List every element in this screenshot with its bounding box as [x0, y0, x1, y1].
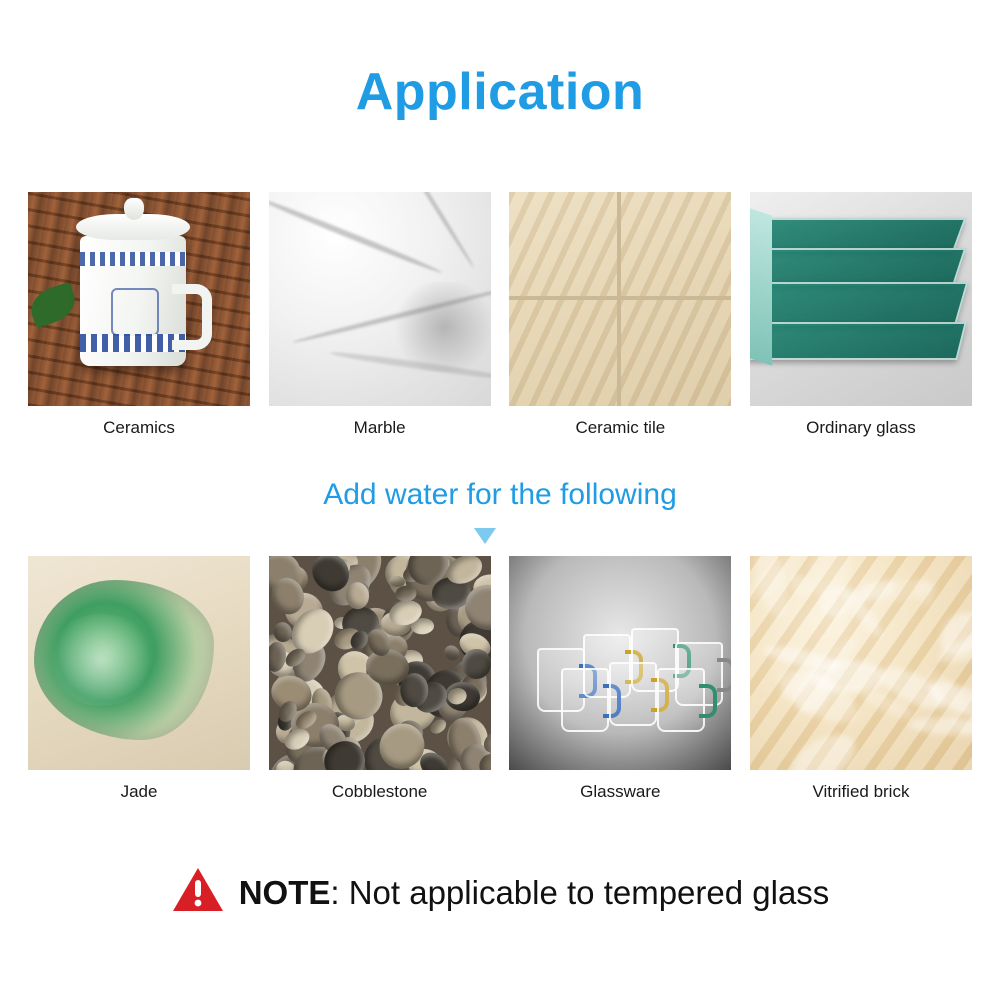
- ceramics-caption: Ceramics: [103, 418, 175, 438]
- application-item-cobblestone: Cobblestone: [269, 556, 491, 802]
- add-water-note: Add water for the following: [0, 478, 1000, 512]
- application-item-ceramics: Ceramics: [28, 192, 250, 438]
- jade-image: [28, 556, 250, 770]
- vitrified-brick-caption: Vitrified brick: [812, 782, 909, 802]
- page-title: Application: [0, 62, 1000, 122]
- application-item-ordinary-glass: Ordinary glass: [750, 192, 972, 438]
- jade-caption: Jade: [121, 782, 158, 802]
- application-item-ceramic-tile: Ceramic tile: [509, 192, 731, 438]
- application-row-2: Jade Cobblestone Glassware Vitrified bri…: [28, 556, 972, 802]
- application-item-jade: Jade: [28, 556, 250, 802]
- marble-image: [269, 192, 491, 406]
- footer-note: NOTE: Not applicable to tempered glass: [0, 866, 1000, 919]
- application-item-glassware: Glassware: [509, 556, 731, 802]
- application-item-vitrified-brick: Vitrified brick: [750, 556, 972, 802]
- footer-note-body: Not applicable to tempered glass: [340, 874, 830, 911]
- ceramic-tile-caption: Ceramic tile: [575, 418, 665, 438]
- application-row-1: Ceramics Marble Ceramic tile: [28, 192, 972, 438]
- application-item-marble: Marble: [269, 192, 491, 438]
- glassware-caption: Glassware: [580, 782, 660, 802]
- ceramics-image: [28, 192, 250, 406]
- ordinary-glass-caption: Ordinary glass: [806, 418, 916, 438]
- ordinary-glass-image: [750, 192, 972, 406]
- cobblestone-caption: Cobblestone: [332, 782, 427, 802]
- warning-triangle-icon: [171, 866, 225, 919]
- ceramic-tile-image: [509, 192, 731, 406]
- marble-caption: Marble: [354, 418, 406, 438]
- footer-note-label: NOTE: [239, 874, 331, 911]
- glassware-image: [509, 556, 731, 770]
- arrow-down-icon: [474, 528, 496, 544]
- application-page: Application Ceramics: [0, 0, 1000, 1000]
- vitrified-brick-image: [750, 556, 972, 770]
- footer-note-text: NOTE: Not applicable to tempered glass: [239, 874, 830, 912]
- cobblestone-image: [269, 556, 491, 770]
- footer-note-separator: :: [330, 874, 339, 911]
